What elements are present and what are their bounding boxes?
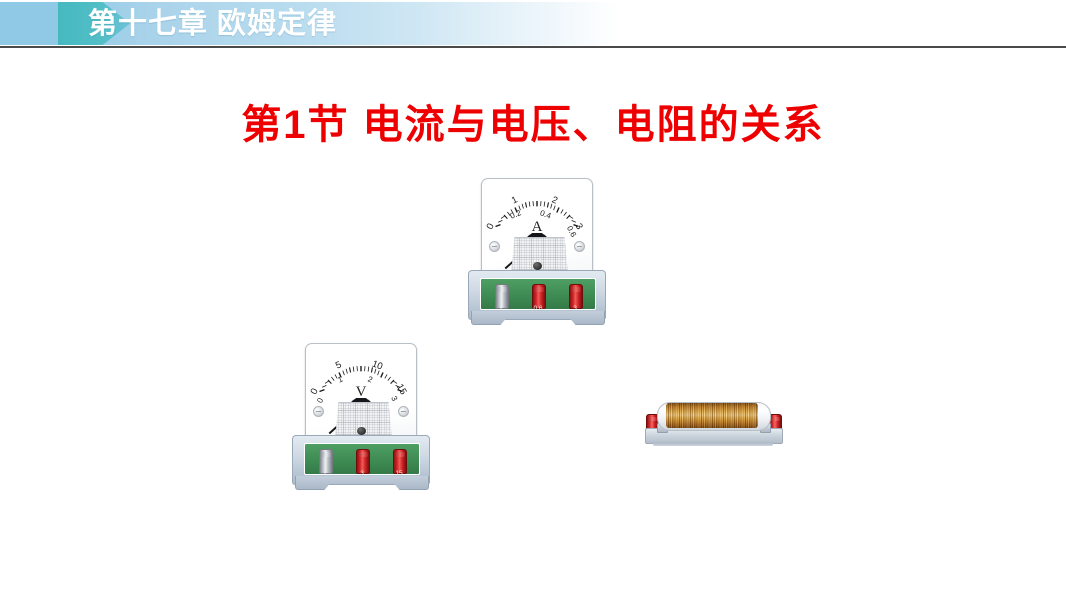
voltmeter-foot	[295, 476, 429, 490]
ammeter-foot	[471, 311, 605, 325]
ammeter-zero-adjust-knob[interactable]	[533, 262, 542, 270]
voltmeter-screw-right	[398, 406, 409, 417]
ammeter-screw-right	[574, 241, 585, 252]
ammeter-terminal-3-label: 3	[562, 305, 588, 312]
header-banner: 第十七章 欧姆定律	[0, 0, 1066, 47]
resistor-wire-coil	[666, 403, 758, 428]
ammeter-terminal-negative-label: -	[488, 305, 514, 312]
ammeter-illustration: 0 1 2 3 0.2 0.4 0.6 A - 0.6 3	[468, 178, 604, 333]
voltmeter-base: - 3 15	[292, 435, 430, 485]
resistor-illustration	[645, 396, 785, 452]
voltmeter-terminal-panel: - 3 15	[304, 443, 420, 475]
ammeter-screw-left	[489, 241, 500, 252]
voltmeter-illustration: 0 5 10 15 0 1 2 3 V - 3 15	[292, 343, 428, 498]
voltmeter-face: 0 5 10 15 0 1 2 3 V	[305, 343, 417, 443]
voltmeter-terminal-15-label: 15	[386, 470, 412, 477]
ammeter-terminal-0p6-label: 0.6	[525, 305, 551, 312]
voltmeter-terminal-negative-label: -	[312, 470, 338, 477]
ammeter-terminal-panel: - 0.6 3	[480, 278, 596, 310]
ammeter-face: 0 1 2 3 0.2 0.4 0.6 A	[481, 178, 593, 278]
ammeter-base: - 0.6 3	[468, 270, 606, 320]
header-divider-rule	[0, 46, 1066, 48]
resistor-base-shadow	[653, 442, 773, 446]
chapter-title: 第十七章 欧姆定律	[88, 4, 337, 44]
voltmeter-zero-adjust-knob[interactable]	[357, 427, 366, 435]
voltmeter-terminal-3-label: 3	[349, 470, 375, 477]
page-title: 第1节 电流与电压、电阻的关系	[0, 92, 1066, 150]
voltmeter-screw-left	[313, 406, 324, 417]
